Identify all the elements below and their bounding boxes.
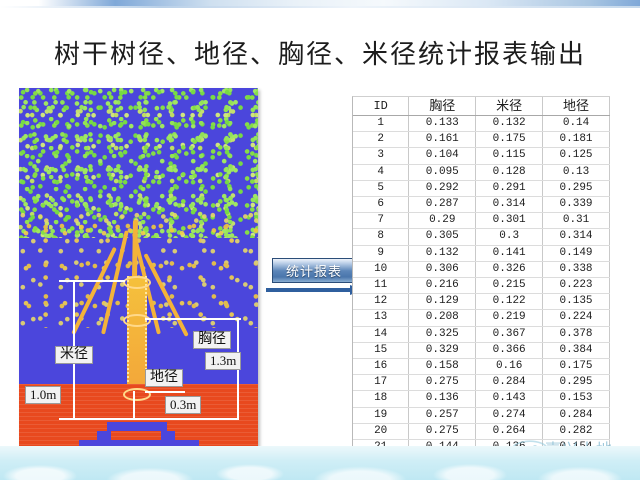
chest-height-label: 1.3m <box>205 352 241 370</box>
cell-meter-diameter: 0.143 <box>476 391 543 407</box>
cell-id: 15 <box>353 342 409 358</box>
cell-chest-diameter: 0.158 <box>409 359 476 375</box>
cell-ground-diameter: 0.175 <box>543 359 610 375</box>
cell-id: 5 <box>353 180 409 196</box>
cell-id: 7 <box>353 213 409 229</box>
flow-arrow-icon <box>266 284 364 296</box>
table-row[interactable]: 30.1040.1150.125 <box>353 148 610 164</box>
baseline-line <box>59 418 239 420</box>
cell-ground-diameter: 0.338 <box>543 261 610 277</box>
cell-chest-diameter: 0.287 <box>409 197 476 213</box>
column-header-meter-diameter[interactable]: 米径 <box>476 97 543 116</box>
cell-ground-diameter: 0.13 <box>543 164 610 180</box>
cell-meter-diameter: 0.122 <box>476 294 543 310</box>
cell-meter-diameter: 0.291 <box>476 180 543 196</box>
table-row[interactable]: 20.1610.1750.181 <box>353 132 610 148</box>
page-title: 树干树径、地径、胸径、米径统计报表输出 <box>0 34 640 71</box>
cell-meter-diameter: 0.326 <box>476 261 543 277</box>
table-row[interactable]: 200.2750.2640.282 <box>353 423 610 439</box>
cell-ground-diameter: 0.153 <box>543 391 610 407</box>
tree-point-cloud-figure: 胸径 1.3m 米径 1.0m 地径 0.3m <box>19 88 258 452</box>
cell-chest-diameter: 0.257 <box>409 407 476 423</box>
ground-height-label: 0.3m <box>165 396 201 414</box>
cell-id: 14 <box>353 326 409 342</box>
cell-meter-diameter: 0.367 <box>476 326 543 342</box>
cell-meter-diameter: 0.16 <box>476 359 543 375</box>
cell-meter-diameter: 0.115 <box>476 148 543 164</box>
table-row[interactable]: 70.290.3010.31 <box>353 213 610 229</box>
meter-height-label: 1.0m <box>25 386 61 404</box>
table-row[interactable]: 160.1580.160.175 <box>353 359 610 375</box>
cell-meter-diameter: 0.128 <box>476 164 543 180</box>
chest-leader-line <box>145 318 241 320</box>
cell-ground-diameter: 0.295 <box>543 180 610 196</box>
chest-diameter-label: 胸径 <box>193 331 231 349</box>
cell-chest-diameter: 0.275 <box>409 375 476 391</box>
cell-chest-diameter: 0.216 <box>409 278 476 294</box>
cell-ground-diameter: 0.135 <box>543 294 610 310</box>
table-row[interactable]: 10.1330.1320.14 <box>353 116 610 132</box>
cell-ground-diameter: 0.284 <box>543 407 610 423</box>
cell-chest-diameter: 0.329 <box>409 342 476 358</box>
cell-ground-diameter: 0.224 <box>543 310 610 326</box>
cell-meter-diameter: 0.3 <box>476 229 543 245</box>
ground-diameter-label: 地径 <box>145 369 183 387</box>
table-body: 10.1330.1320.1420.1610.1750.18130.1040.1… <box>353 116 610 453</box>
statistics-report-button[interactable]: 统计报表 <box>272 258 356 283</box>
cell-id: 8 <box>353 229 409 245</box>
cell-chest-diameter: 0.306 <box>409 261 476 277</box>
cell-chest-diameter: 0.325 <box>409 326 476 342</box>
cell-id: 1 <box>353 116 409 132</box>
cell-id: 12 <box>353 294 409 310</box>
cell-meter-diameter: 0.301 <box>476 213 543 229</box>
cell-chest-diameter: 0.275 <box>409 423 476 439</box>
cell-ground-diameter: 0.339 <box>543 197 610 213</box>
cell-ground-diameter: 0.31 <box>543 213 610 229</box>
ground-leader-line <box>145 391 185 393</box>
ground-dimension-bar <box>133 391 135 418</box>
cell-chest-diameter: 0.104 <box>409 148 476 164</box>
cell-meter-diameter: 0.284 <box>476 375 543 391</box>
cell-chest-diameter: 0.133 <box>409 116 476 132</box>
cell-chest-diameter: 0.132 <box>409 245 476 261</box>
cell-chest-diameter: 0.305 <box>409 229 476 245</box>
cell-id: 17 <box>353 375 409 391</box>
cell-meter-diameter: 0.132 <box>476 116 543 132</box>
cell-id: 11 <box>353 278 409 294</box>
cell-chest-diameter: 0.095 <box>409 164 476 180</box>
cell-id: 6 <box>353 197 409 213</box>
cell-meter-diameter: 0.215 <box>476 278 543 294</box>
table-row[interactable]: 50.2920.2910.295 <box>353 180 610 196</box>
cell-ground-diameter: 0.125 <box>543 148 610 164</box>
cell-ground-diameter: 0.223 <box>543 278 610 294</box>
cell-meter-diameter: 0.264 <box>476 423 543 439</box>
chest-diameter-marker <box>123 314 151 327</box>
cell-chest-diameter: 0.208 <box>409 310 476 326</box>
cell-meter-diameter: 0.141 <box>476 245 543 261</box>
cell-id: 19 <box>353 407 409 423</box>
table-row[interactable]: 150.3290.3660.384 <box>353 342 610 358</box>
cell-ground-diameter: 0.314 <box>543 229 610 245</box>
table-row[interactable]: 90.1320.1410.149 <box>353 245 610 261</box>
table-row[interactable]: 100.3060.3260.338 <box>353 261 610 277</box>
cell-ground-diameter: 0.282 <box>543 423 610 439</box>
cell-ground-diameter: 0.181 <box>543 132 610 148</box>
meter-diameter-marker <box>123 276 151 289</box>
cell-chest-diameter: 0.161 <box>409 132 476 148</box>
meter-leader-line <box>59 280 125 282</box>
meter-diameter-label: 米径 <box>55 346 93 364</box>
table-row[interactable]: 140.3250.3670.378 <box>353 326 610 342</box>
cell-chest-diameter: 0.292 <box>409 180 476 196</box>
cell-chest-diameter: 0.129 <box>409 294 476 310</box>
footer-wave-decoration <box>0 446 640 480</box>
table-row[interactable]: 40.0950.1280.13 <box>353 164 610 180</box>
cell-ground-diameter: 0.384 <box>543 342 610 358</box>
cell-chest-diameter: 0.29 <box>409 213 476 229</box>
root-void-a <box>107 422 167 431</box>
cell-id: 2 <box>353 132 409 148</box>
cell-id: 4 <box>353 164 409 180</box>
cell-ground-diameter: 0.378 <box>543 326 610 342</box>
cell-meter-diameter: 0.219 <box>476 310 543 326</box>
table-header-row: ID 胸径 米径 地径 <box>353 97 610 116</box>
cell-id: 16 <box>353 359 409 375</box>
statistics-report-table[interactable]: ID 胸径 米径 地径 10.1330.1320.1420.1610.1750.… <box>352 96 610 452</box>
table-row[interactable]: 60.2870.3140.339 <box>353 197 610 213</box>
cell-id: 13 <box>353 310 409 326</box>
cell-meter-diameter: 0.175 <box>476 132 543 148</box>
cell-id: 18 <box>353 391 409 407</box>
top-decorative-bar-edge <box>0 6 640 8</box>
cell-id: 3 <box>353 148 409 164</box>
cell-meter-diameter: 0.366 <box>476 342 543 358</box>
cell-meter-diameter: 0.274 <box>476 407 543 423</box>
table-row[interactable]: 130.2080.2190.224 <box>353 310 610 326</box>
cell-meter-diameter: 0.314 <box>476 197 543 213</box>
cell-ground-diameter: 0.295 <box>543 375 610 391</box>
column-header-chest-diameter[interactable]: 胸径 <box>409 97 476 116</box>
cell-ground-diameter: 0.149 <box>543 245 610 261</box>
ground-diameter-marker <box>123 388 151 401</box>
cell-id: 9 <box>353 245 409 261</box>
cell-id: 20 <box>353 423 409 439</box>
cell-chest-diameter: 0.136 <box>409 391 476 407</box>
table-row[interactable]: 80.3050.30.314 <box>353 229 610 245</box>
column-header-ground-diameter[interactable]: 地径 <box>543 97 610 116</box>
table-row[interactable]: 110.2160.2150.223 <box>353 278 610 294</box>
cell-id: 10 <box>353 261 409 277</box>
table-row[interactable]: 190.2570.2740.284 <box>353 407 610 423</box>
table-row[interactable]: 120.1290.1220.135 <box>353 294 610 310</box>
table-row[interactable]: 180.1360.1430.153 <box>353 391 610 407</box>
table-row[interactable]: 170.2750.2840.295 <box>353 375 610 391</box>
column-header-id[interactable]: ID <box>353 97 409 116</box>
cell-ground-diameter: 0.14 <box>543 116 610 132</box>
